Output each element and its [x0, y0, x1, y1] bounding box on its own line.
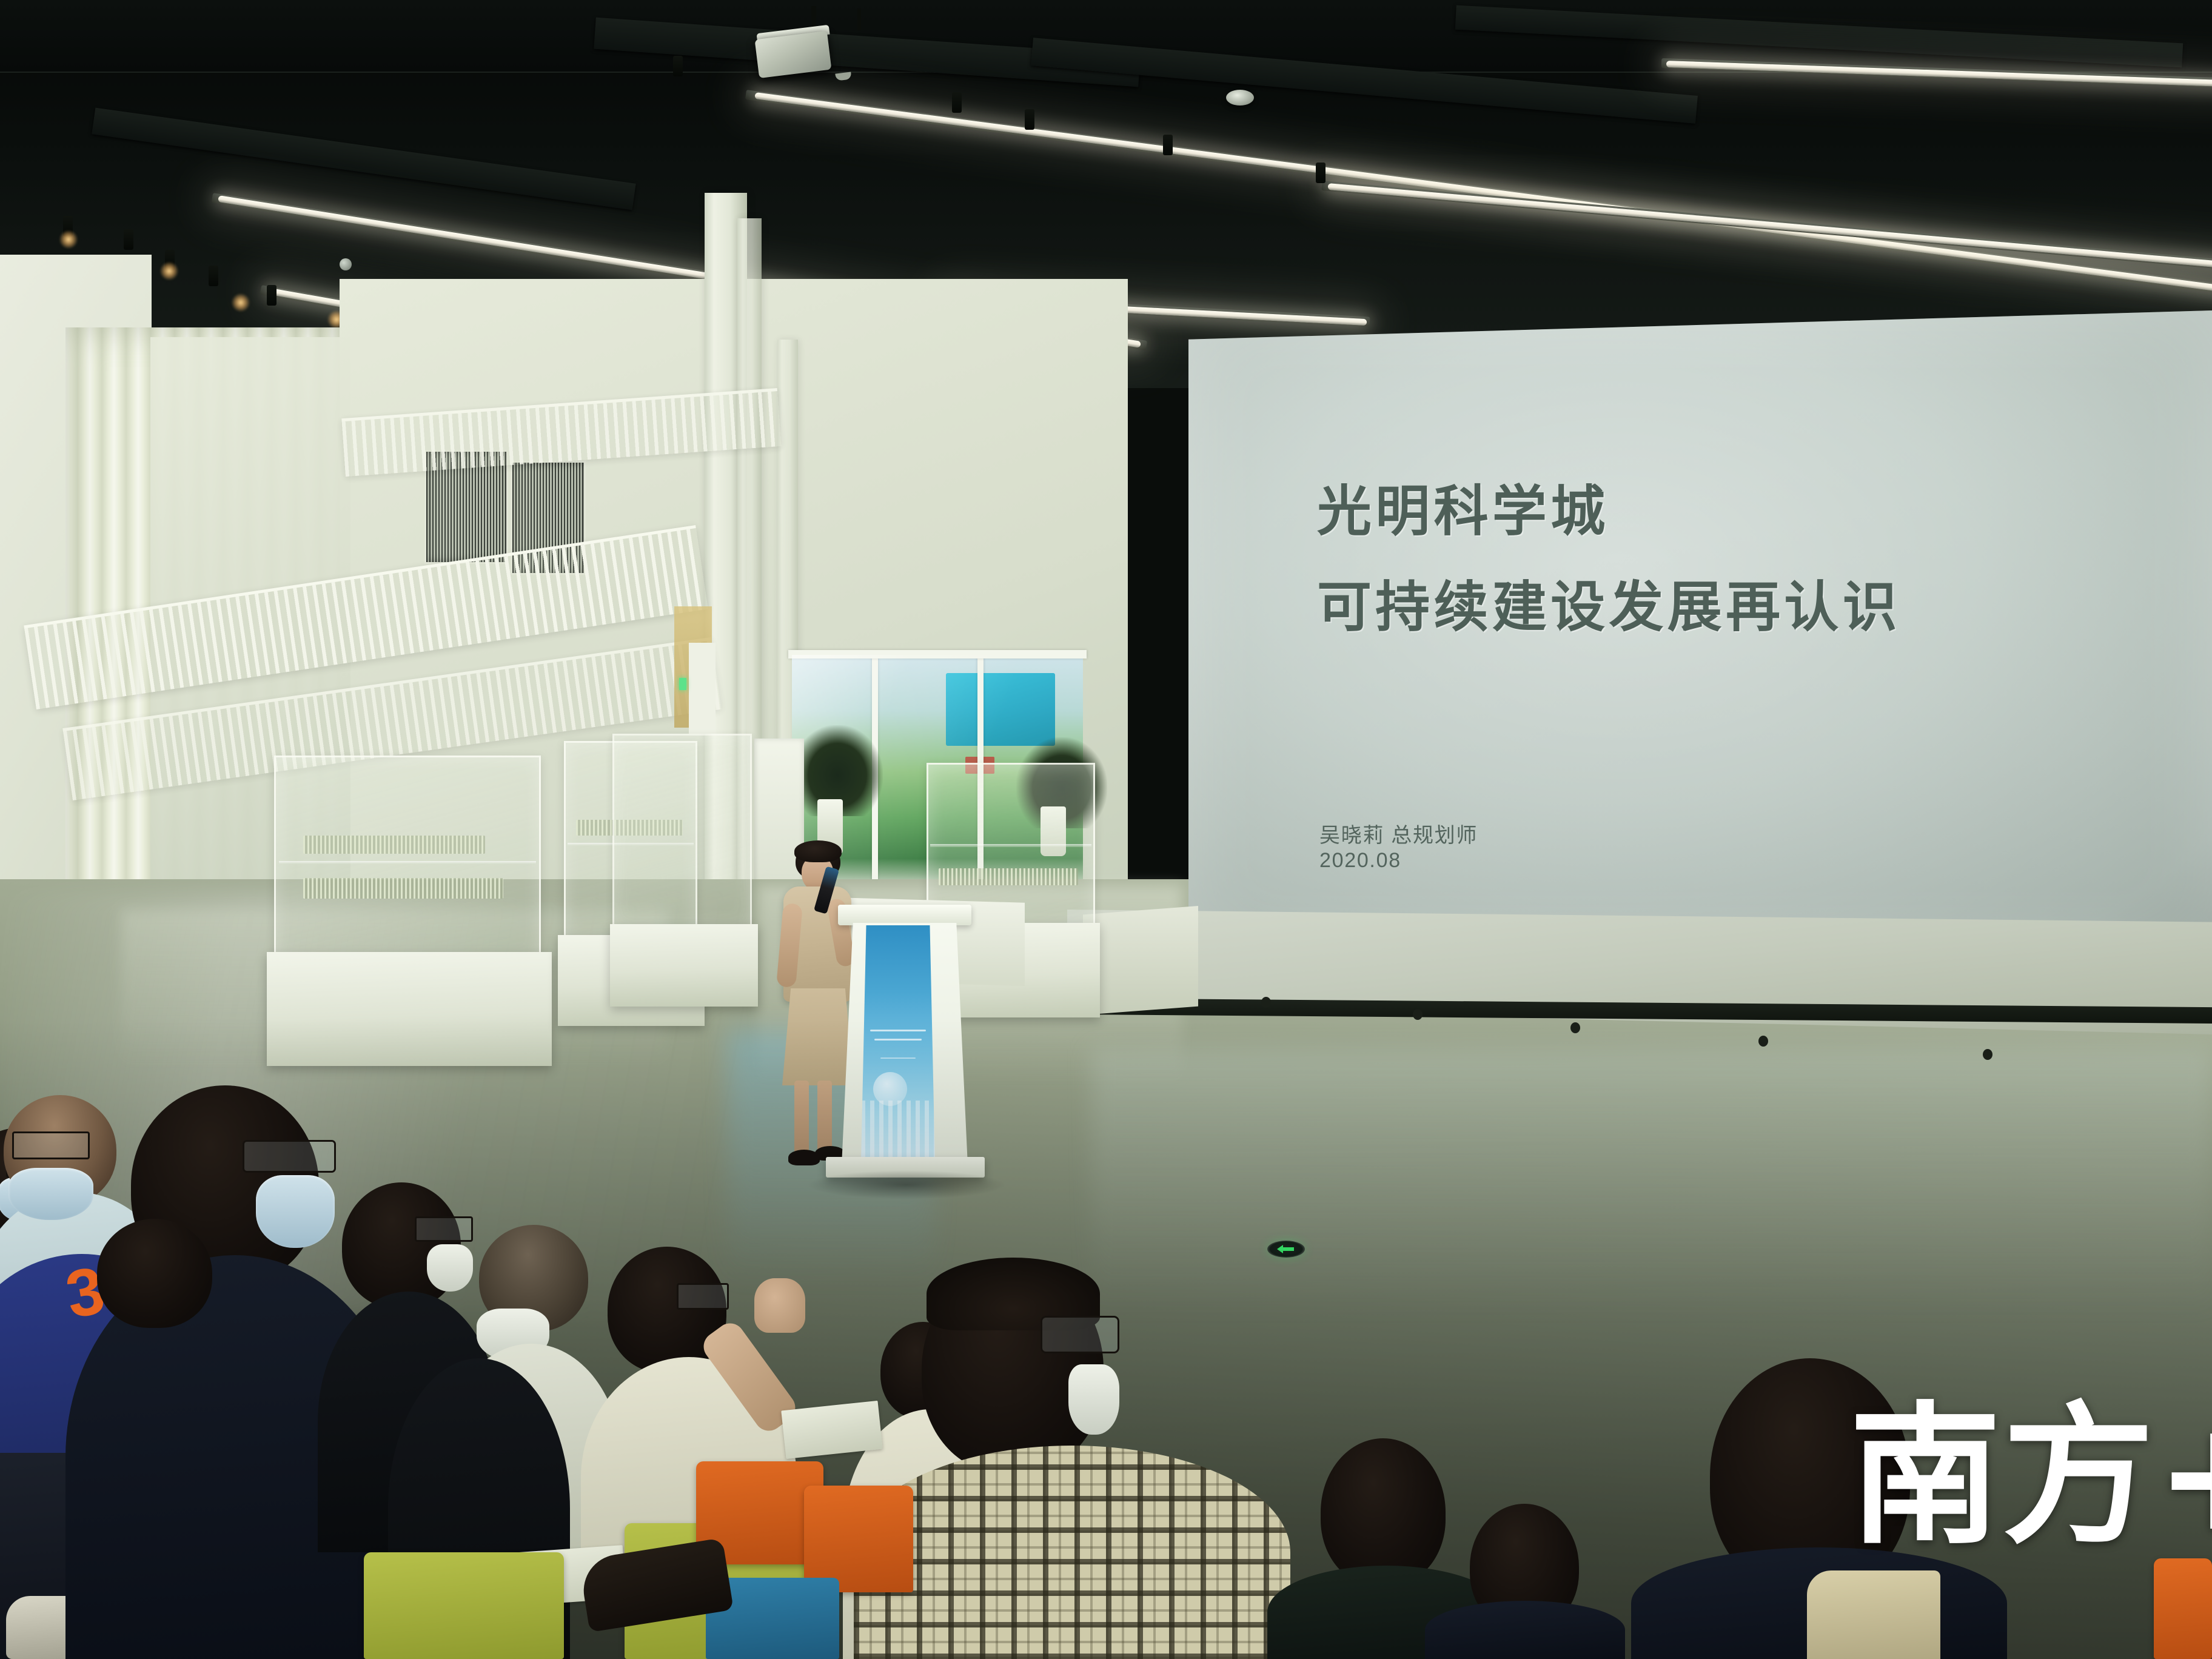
- face-mask: [8, 1168, 93, 1220]
- track-spotlight: [952, 92, 962, 113]
- eyeglasses: [243, 1140, 336, 1173]
- face-mask: [256, 1175, 335, 1248]
- presentation-hall-photo: 光明科学城 可持续建设发展再认识 吴晓莉 总规划师 2020.08 深圳市城市规…: [0, 0, 2212, 1659]
- audience-head: [1321, 1438, 1446, 1586]
- exhibit-case-shelf: [279, 861, 536, 864]
- exhibit-case-shelf: [930, 844, 1091, 847]
- face-mask: [427, 1244, 473, 1292]
- chair-green[interactable]: [364, 1552, 564, 1659]
- slide-title-line2: 可持续建设发展再认识: [1317, 563, 1901, 642]
- chair-orange[interactable]: [2154, 1558, 2212, 1659]
- face-mask: [1068, 1364, 1119, 1435]
- slide-date: 2020.08: [1319, 849, 1401, 873]
- eyeglasses: [12, 1131, 90, 1159]
- wall-inset-panel-white: [689, 643, 716, 734]
- exhibit-case: [612, 734, 752, 928]
- audience-shoulders: [1425, 1601, 1625, 1659]
- exhibit-model: [303, 878, 503, 899]
- track-spotlight: [1025, 109, 1034, 130]
- eyeglasses: [415, 1216, 473, 1242]
- handout-paper[interactable]: [781, 1401, 882, 1459]
- exhibit-model: [939, 868, 1078, 885]
- wall-base-caster: [1261, 997, 1271, 1008]
- spotlight-glow: [59, 230, 78, 249]
- audience-shoulders: [854, 1446, 1290, 1659]
- ceiling-light-fixture: [1226, 90, 1254, 106]
- low-wall-left: [1083, 906, 1198, 1015]
- sprinkler-head: [340, 258, 352, 270]
- chair-orange[interactable]: [804, 1486, 913, 1592]
- exhibit-model: [303, 836, 485, 854]
- slide-presenter: 吴晓莉 总规划师: [1319, 819, 1478, 848]
- watermark-nanfang-plus: 南方+: [1849, 1401, 2212, 1552]
- audience-raised-hand: [754, 1278, 805, 1333]
- audience-head: [97, 1219, 212, 1328]
- eyeglasses: [677, 1283, 729, 1310]
- spotlight-glow: [160, 262, 178, 280]
- slide-title-line1: 光明科学城: [1317, 467, 1609, 546]
- eyeglasses: [1041, 1316, 1119, 1353]
- projector-mount: [857, 8, 861, 30]
- exit-indicator-icon: [679, 678, 686, 690]
- exhibit-case: [274, 756, 541, 962]
- track-spotlight: [1163, 135, 1173, 155]
- track-spotlight: [209, 266, 218, 286]
- audience-collar: [1807, 1570, 1940, 1659]
- track-spotlight: [124, 229, 133, 250]
- projection-screen: 光明科学城 可持续建设发展再认识 吴晓莉 总规划师 2020.08 深圳市城市规…: [1188, 310, 2212, 953]
- speaker-hair-front: [794, 840, 842, 862]
- spotlight-glow: [232, 293, 250, 312]
- track-spotlight: [673, 56, 683, 76]
- exhibit-case-base: [610, 924, 758, 1007]
- track-spotlight: [1316, 163, 1326, 183]
- podium-top: [838, 905, 971, 925]
- track-spotlight: [267, 285, 276, 306]
